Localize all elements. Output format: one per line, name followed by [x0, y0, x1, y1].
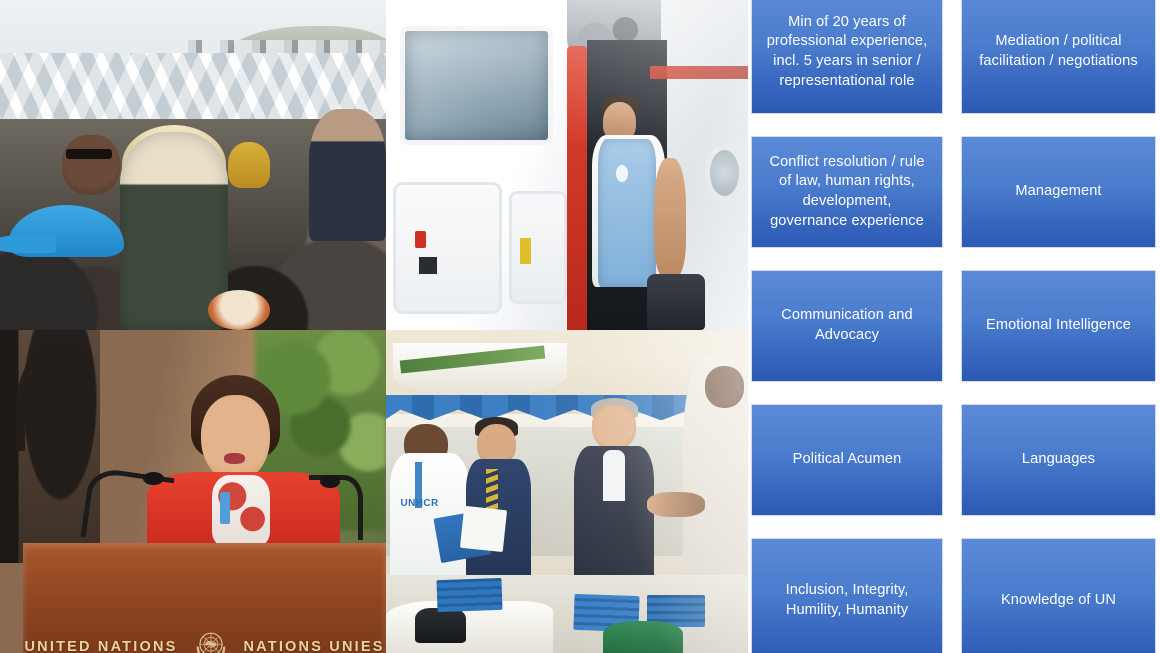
slide-root: UNITED NATIONS NATIONS UNIES: [0, 0, 1160, 653]
card-label: Mediation / political facilitation / neg…: [972, 32, 1145, 71]
lens-glare: [386, 330, 748, 653]
card-label: Languages: [1022, 450, 1095, 470]
card-label: Emotional Intelligence: [986, 316, 1131, 336]
podium-lettering: UNITED NATIONS NATIONS UNIES: [23, 624, 386, 653]
competency-card-grid: Min of 20 years of professional experien…: [751, 0, 1160, 653]
person-sunglasses: [62, 135, 120, 194]
card-mediation[interactable]: Mediation / political facilitation / neg…: [961, 0, 1156, 114]
card-experience[interactable]: Min of 20 years of professional experien…: [751, 0, 943, 114]
card-values[interactable]: Inclusion, Integrity, Humility, Humanity: [751, 538, 943, 653]
card-languages[interactable]: Languages: [961, 404, 1156, 516]
card-knowledge-of-un[interactable]: Knowledge of UN: [961, 538, 1156, 653]
un-badge: [220, 492, 230, 524]
card-label: Conflict resolution / rule of law, human…: [762, 153, 932, 231]
podium-text-english: UNITED NATIONS: [25, 639, 178, 653]
card-label: Political Acumen: [793, 450, 902, 470]
person-headscarf-yellow: [228, 142, 270, 188]
un-podium-speech-photo: UNITED NATIONS NATIONS UNIES: [0, 330, 386, 653]
microphone-head-left: [143, 472, 164, 485]
field-visit-handshake-photo: UNHCR: [386, 330, 748, 653]
card-label: Knowledge of UN: [1001, 591, 1116, 611]
un-podium: UNITED NATIONS NATIONS UNIES: [23, 543, 386, 653]
card-label: Inclusion, Integrity, Humility, Humanity: [762, 581, 932, 620]
card-communication[interactable]: Communication and Advocacy: [751, 270, 943, 382]
helicopter-deployment-photo: [386, 0, 748, 330]
card-management[interactable]: Management: [961, 136, 1156, 248]
person-suit: [309, 109, 386, 241]
sunglasses-icon: [66, 149, 112, 160]
podium-text-french: NATIONS UNIES: [244, 639, 385, 653]
microphone-head-right: [320, 475, 339, 488]
un-emblem-icon: [188, 624, 234, 653]
card-political-acumen[interactable]: Political Acumen: [751, 404, 943, 516]
speaker-mouth: [224, 453, 245, 465]
speaker-head: [201, 395, 270, 482]
card-emotional-intelligence[interactable]: Emotional Intelligence: [961, 270, 1156, 382]
card-conflict-resolution[interactable]: Conflict resolution / rule of law, human…: [751, 136, 943, 248]
food-plate: [208, 290, 270, 330]
card-label: Management: [1015, 182, 1101, 202]
card-label: Min of 20 years of professional experien…: [762, 13, 932, 91]
photo-collage: UNITED NATIONS NATIONS UNIES: [0, 0, 748, 653]
refugee-camp-visit-photo: [0, 0, 386, 330]
card-label: Communication and Advocacy: [762, 306, 932, 345]
lens-haze: [386, 0, 748, 330]
